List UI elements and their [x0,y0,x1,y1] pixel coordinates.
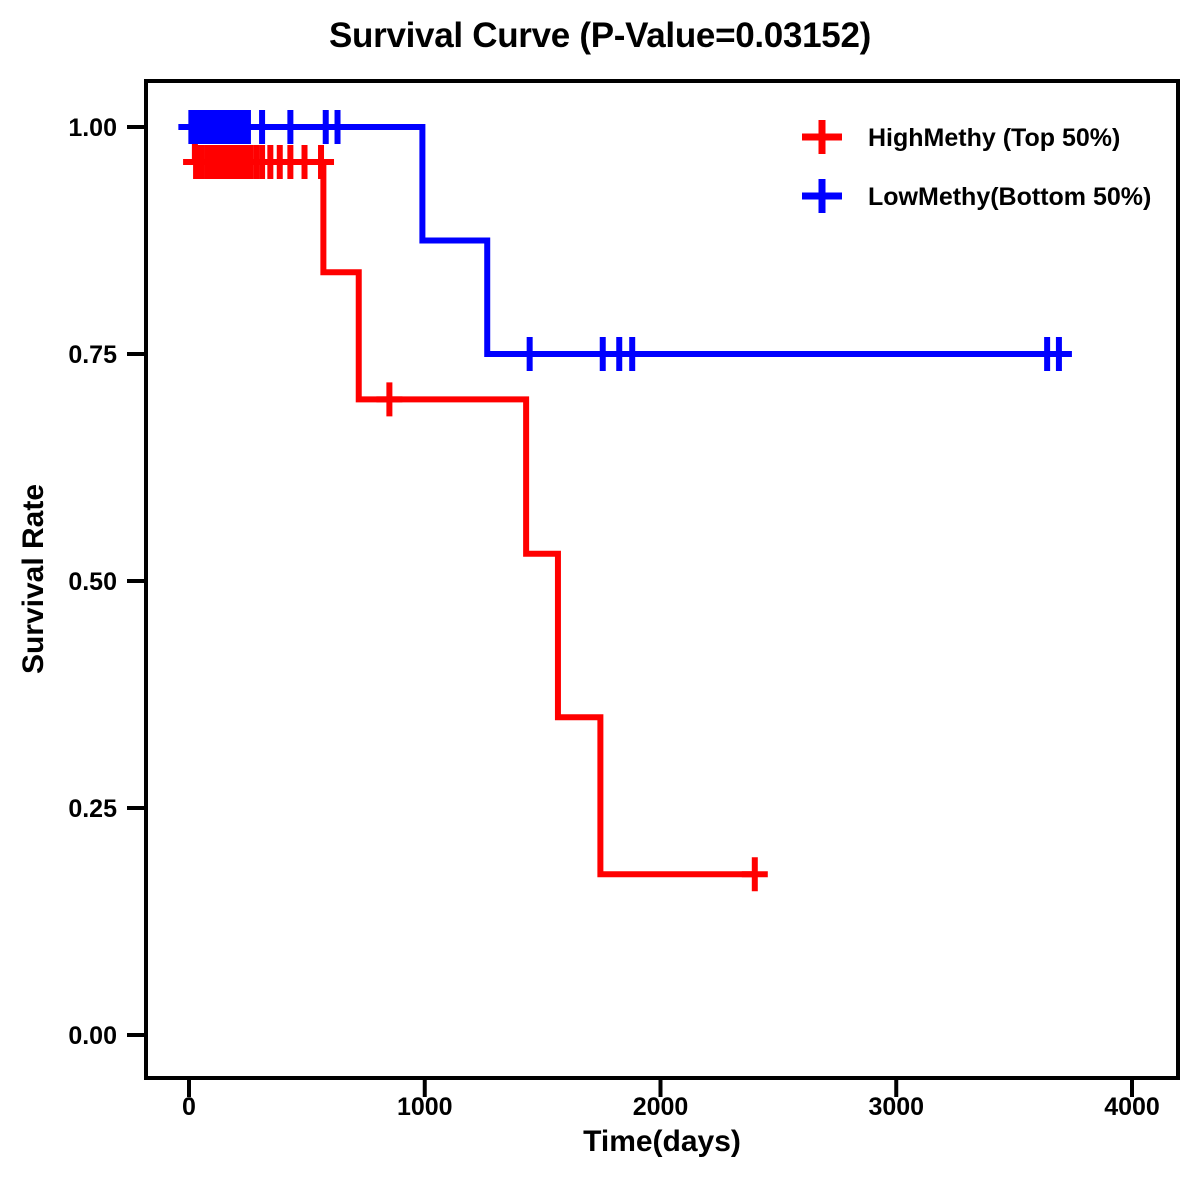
y-tick-label: 0.50 [68,568,117,596]
x-tick-label: 2000 [633,1093,689,1121]
x-axis-ticks: 01000200030004000 [182,1078,1160,1121]
y-tick-label: 0.75 [68,341,117,369]
plot-frame [146,81,1178,1078]
x-tick-label: 1000 [397,1093,453,1121]
plot-canvas: 01000200030004000 0.000.250.500.751.00 H… [0,0,1200,1200]
x-tick-label: 3000 [868,1093,924,1121]
data-series-group [178,110,1072,891]
legend-entry-label: LowMethy(Bottom 50%) [868,183,1151,211]
y-tick-label: 0.25 [68,795,117,823]
legend-entry-label: HighMethy (Top 50%) [868,124,1120,152]
x-tick-label: 4000 [1104,1093,1160,1121]
chart-legend: HighMethy (Top 50%)LowMethy(Bottom 50%) [802,120,1151,213]
y-axis-ticks: 0.000.250.500.751.00 [68,114,146,1050]
y-tick-label: 0.00 [68,1022,117,1050]
x-tick-label: 0 [182,1093,196,1121]
y-tick-label: 1.00 [68,114,117,142]
survival-curve-figure: Survival Curve (P-Value=0.03152) Surviva… [0,0,1200,1200]
